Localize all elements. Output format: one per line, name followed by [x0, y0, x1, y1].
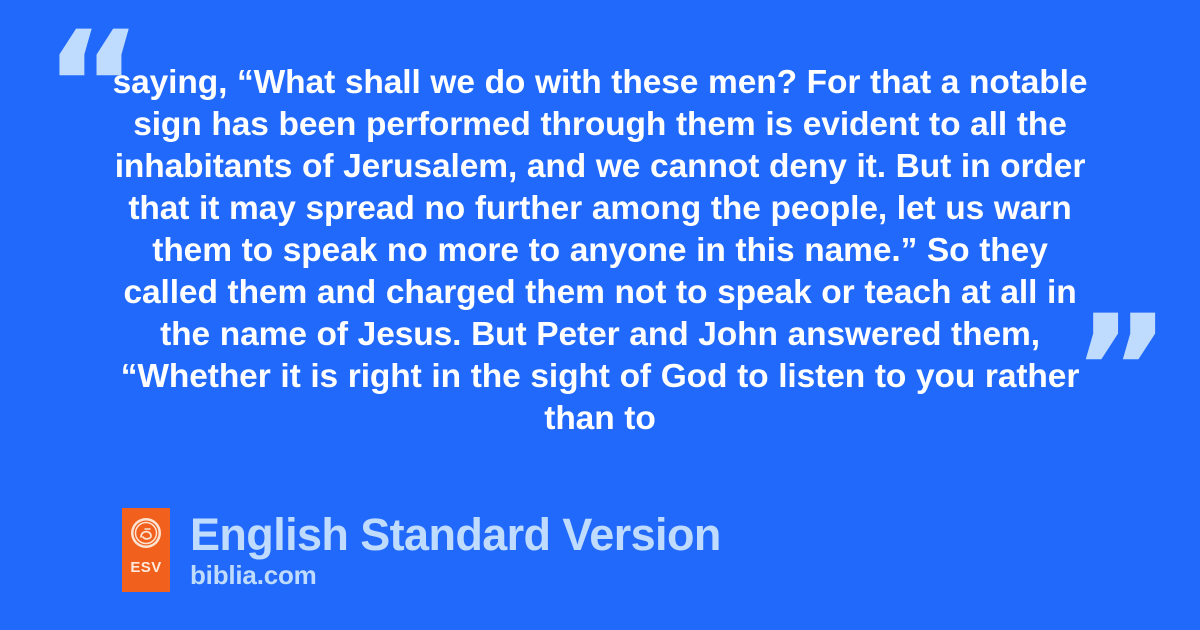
verse-card: “ saying, “What shall we do with these m… — [0, 0, 1200, 630]
footer-branding: ESV English Standard Version biblia.com — [122, 508, 721, 592]
bible-version-title: English Standard Version — [190, 511, 721, 559]
verse-text: saying, “What shall we do with these men… — [110, 62, 1090, 440]
verse-block: saying, “What shall we do with these men… — [110, 62, 1090, 440]
esv-logo-abbreviation: ESV — [130, 560, 161, 575]
website-label: biblia.com — [190, 561, 721, 589]
esv-seal-icon — [130, 517, 162, 549]
brand-text-block: English Standard Version biblia.com — [190, 508, 721, 589]
esv-logo: ESV — [122, 508, 170, 592]
